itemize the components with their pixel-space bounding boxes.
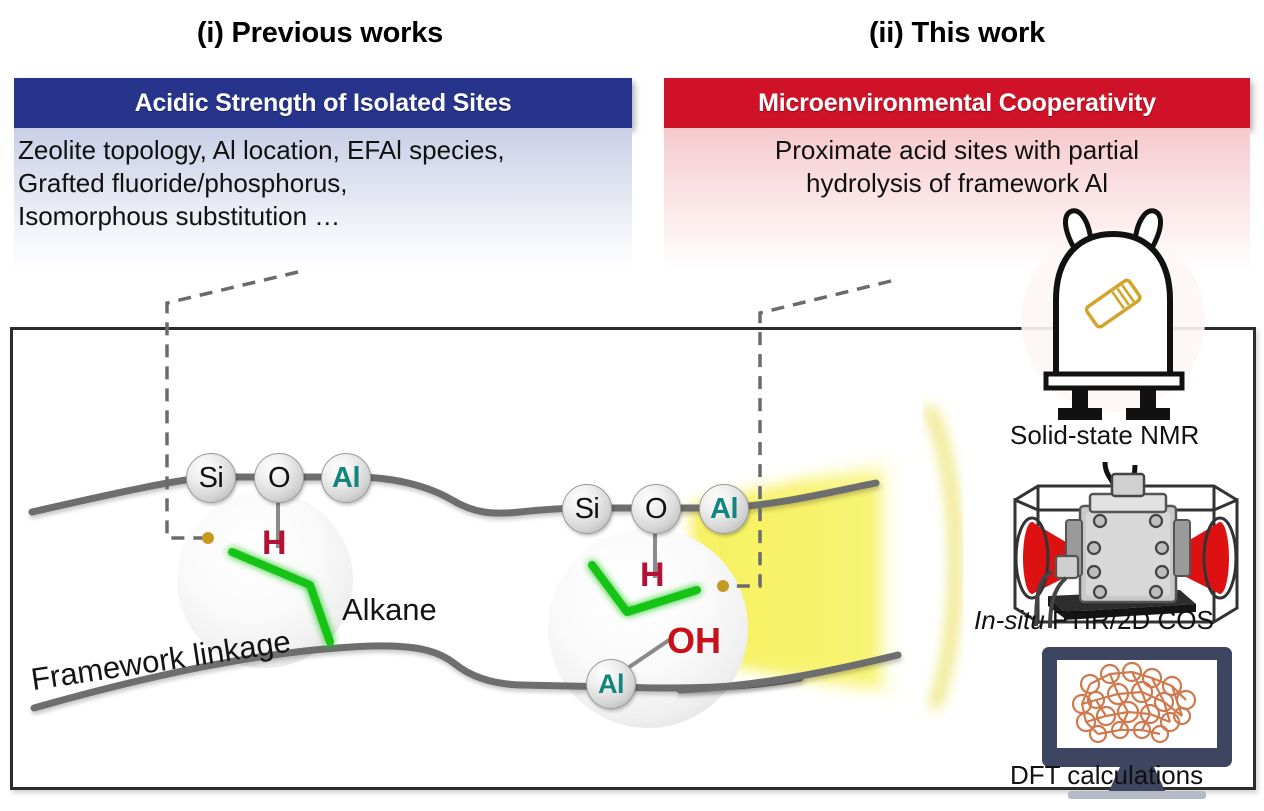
atom-si-right: Si xyxy=(562,484,612,534)
atom-o-right: O xyxy=(631,484,681,534)
panel-previous-works: Acidic Strength of Isolated Sites Zeolit… xyxy=(14,78,632,274)
panel-this-title-bar: Microenvironmental Cooperativity xyxy=(664,78,1250,128)
panel-this-work: Microenvironmental Cooperativity Proxima… xyxy=(664,78,1250,274)
label-solid-state-nmr: Solid-state NMR xyxy=(1010,420,1199,451)
panel-previous-line-1: Zeolite topology, Al location, EFAl spec… xyxy=(18,134,632,167)
label-dft-calculations: DFT calculations xyxy=(1010,760,1203,791)
atom-al-left: Al xyxy=(321,453,371,503)
label-hydroxyl: OH xyxy=(667,620,721,662)
label-proton-left: H xyxy=(262,524,287,563)
panel-previous-line-2: Grafted fluoride/phosphorus, xyxy=(18,167,632,200)
technique-name-nmr: Solid-state NMR xyxy=(1010,420,1199,450)
atom-o-left: O xyxy=(254,453,304,503)
panel-this-body: Proximate acid sites with partial hydrol… xyxy=(664,128,1250,274)
panel-previous-body: Zeolite topology, Al location, EFAl spec… xyxy=(14,128,632,274)
panel-this-line-2: hydrolysis of framework Al xyxy=(664,167,1250,200)
main-diagram-frame xyxy=(10,327,1256,790)
technique-name-ftir-italic: In-situ xyxy=(974,605,1045,635)
atom-si-left: Si xyxy=(186,453,236,503)
atom-al-right: Al xyxy=(699,484,749,534)
panel-this-line-1: Proximate acid sites with partial xyxy=(664,134,1250,167)
heading-this-work: (ii) This work xyxy=(650,17,1264,50)
atom-al-extraframework: Al xyxy=(586,659,636,709)
panel-previous-title-bar: Acidic Strength of Isolated Sites xyxy=(14,78,632,128)
heading-previous-works: (i) Previous works xyxy=(0,17,640,50)
panel-previous-line-3: Isomorphous substitution … xyxy=(18,200,632,233)
technique-name-ftir: FTIR/2D COS xyxy=(1045,605,1214,635)
label-proton-right: H xyxy=(640,556,665,595)
label-alkane: Alkane xyxy=(342,592,437,628)
label-in-situ-ftir: In-situ FTIR/2D COS xyxy=(974,605,1214,636)
technique-name-dft: DFT calculations xyxy=(1010,760,1203,790)
